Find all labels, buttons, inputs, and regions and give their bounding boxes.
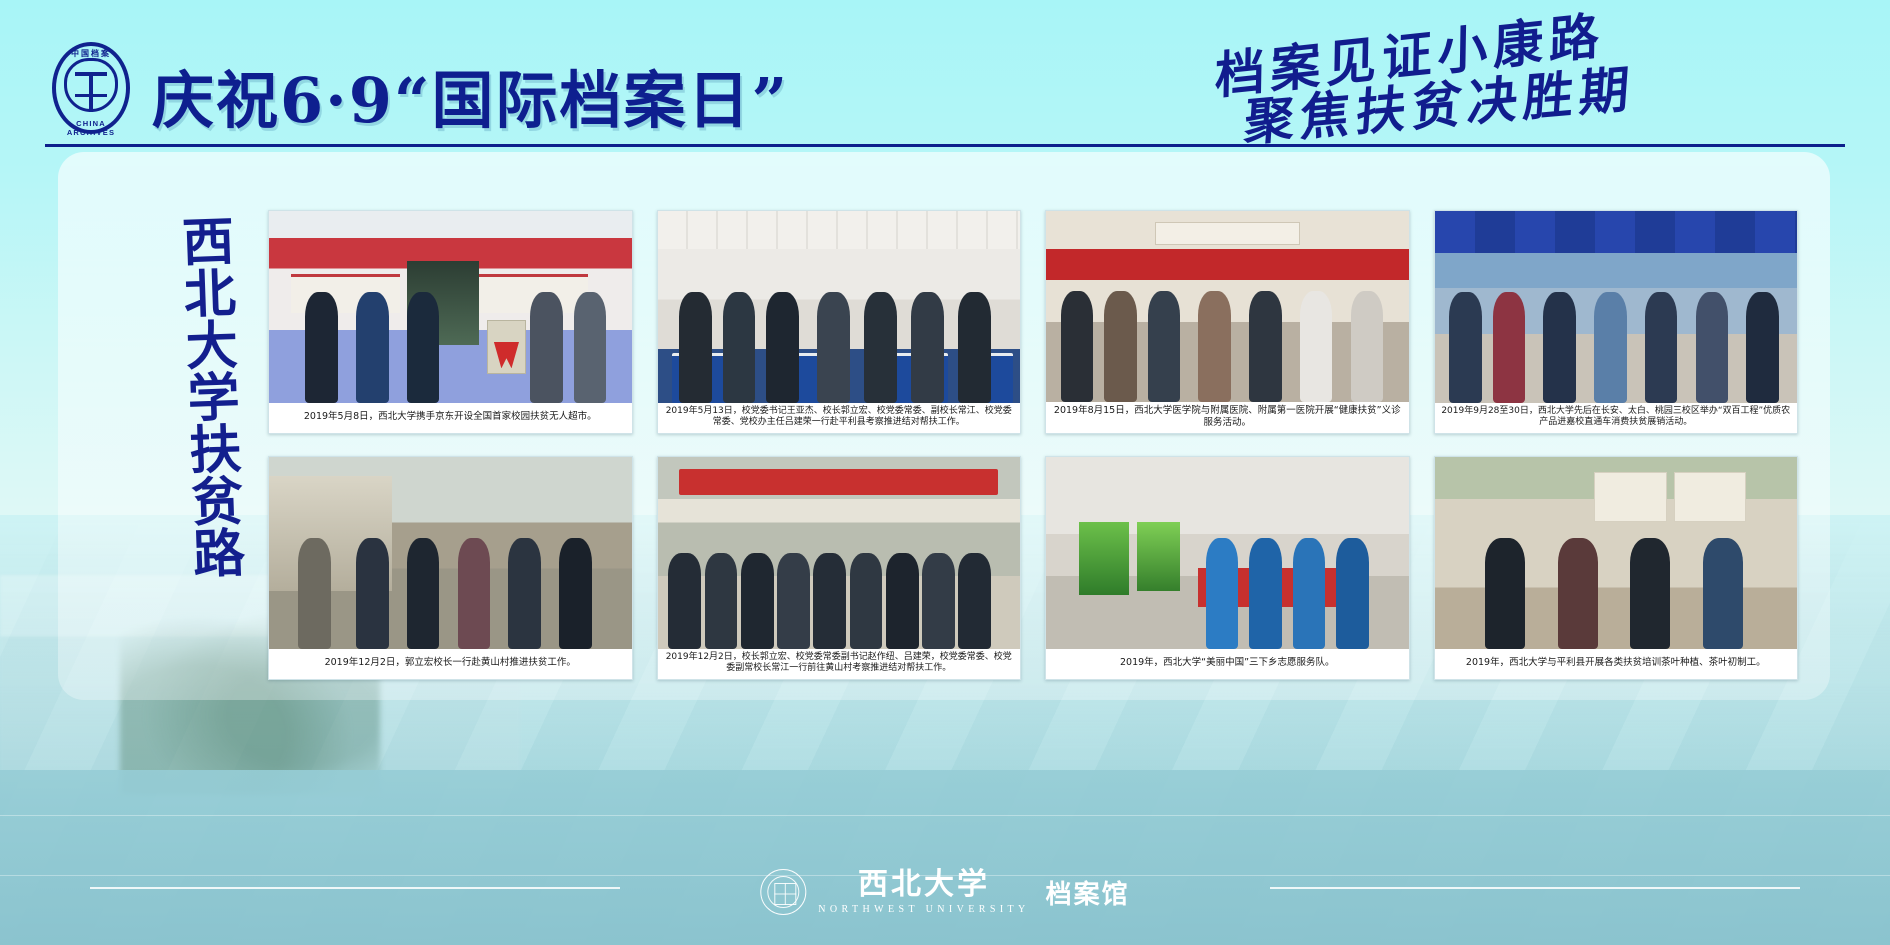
photo-card[interactable]: 2019年12月2日，校长郭立宏、校党委常委副书记赵作纽、吕建荣，校党委常委、校… [657,456,1022,680]
photo-card[interactable]: 2019年5月13日，校党委书记王亚杰、校长郭立宏、校党委常委、副校长常江、校党… [657,210,1022,434]
university-name-block: 西北大学 NORTHWEST UNIVERSITY [818,870,1029,915]
poster-header: 中国档案 CHINA ARCHIVES 庆祝6·9“国际档案日” 档案见证小康路… [0,0,1890,146]
photo-image-5 [269,457,632,649]
poster-canvas: 中国档案 CHINA ARCHIVES 庆祝6·9“国际档案日” 档案见证小康路… [0,0,1890,945]
photo-caption: 2019年，西北大学与平利县开展各类扶贫培训茶叶种植、茶叶初制工。 [1435,649,1798,679]
photo-caption: 2019年9月28至30日，西北大学先后在长安、太白、桃园三校区举办“双百工程”… [1435,403,1798,433]
photo-caption: 2019年5月8日，西北大学携手京东开设全国首家校园扶贫无人超市。 [269,403,632,433]
photo-image-3 [1046,211,1409,402]
photo-image-2 [658,211,1021,403]
photo-caption: 2019年，西北大学“美丽中国”三下乡志愿服务队。 [1046,649,1409,679]
department-name: 档案馆 [1046,874,1130,911]
footer-rule-left [90,887,620,889]
footer-rule-right [1270,887,1800,889]
footer-brand: 西北大学 NORTHWEST UNIVERSITY 档案馆 [760,869,1129,915]
china-archives-seal-icon: 中国档案 CHINA ARCHIVES [52,42,130,134]
university-name-cn: 西北大学 [858,870,990,900]
poster-footer: 西北大学 NORTHWEST UNIVERSITY 档案馆 [0,825,1890,945]
university-name-en: NORTHWEST UNIVERSITY [818,904,1029,915]
photo-caption: 2019年8月15日，西北大学医学院与附属医院、附属第一医院开展“健康扶贫”义诊… [1046,402,1409,433]
section-vertical-title: 西北大学扶贫路 [134,213,243,580]
photo-grid: 2019年5月8日，西北大学携手京东开设全国首家校园扶贫无人超市。 [268,210,1798,680]
photo-image-6 [658,457,1021,649]
photo-card[interactable]: 2019年5月8日，西北大学携手京东开设全国首家校园扶贫无人超市。 [268,210,633,434]
photo-card[interactable]: 2019年8月15日，西北大学医学院与附属医院、附属第一医院开展“健康扶贫”义诊… [1045,210,1410,434]
photo-card[interactable]: 2019年，西北大学与平利县开展各类扶贫培训茶叶种植、茶叶初制工。 [1434,456,1799,680]
calligraphy-slogan: 档案见证小康路 聚焦扶贫决胜期 [1192,14,1832,144]
photo-caption: 2019年5月13日，校党委书记王亚杰、校长郭立宏、校党委常委、副校长常江、校党… [658,403,1021,433]
page-title: 庆祝6·9“国际档案日” [152,50,789,140]
photo-caption: 2019年12月2日，校长郭立宏、校党委常委副书记赵作纽、吕建荣，校党委常委、校… [658,649,1021,679]
photo-image-4 [1435,211,1798,403]
photo-card[interactable]: 2019年9月28至30日，西北大学先后在长安、太白、桃园三校区举办“双百工程”… [1434,210,1799,434]
photo-image-1 [269,211,632,403]
photo-card[interactable]: 2019年12月2日，郭立宏校长一行赴黄山村推进扶贫工作。 [268,456,633,680]
photo-caption: 2019年12月2日，郭立宏校长一行赴黄山村推进扶贫工作。 [269,649,632,679]
photo-image-8 [1435,457,1798,649]
northwest-university-seal-icon [760,869,806,915]
seal-bottom-label: CHINA ARCHIVES [52,119,130,137]
header-divider [45,144,1845,147]
photo-card[interactable]: 2019年，西北大学“美丽中国”三下乡志愿服务队。 [1045,456,1410,680]
photo-image-7 [1046,457,1409,649]
